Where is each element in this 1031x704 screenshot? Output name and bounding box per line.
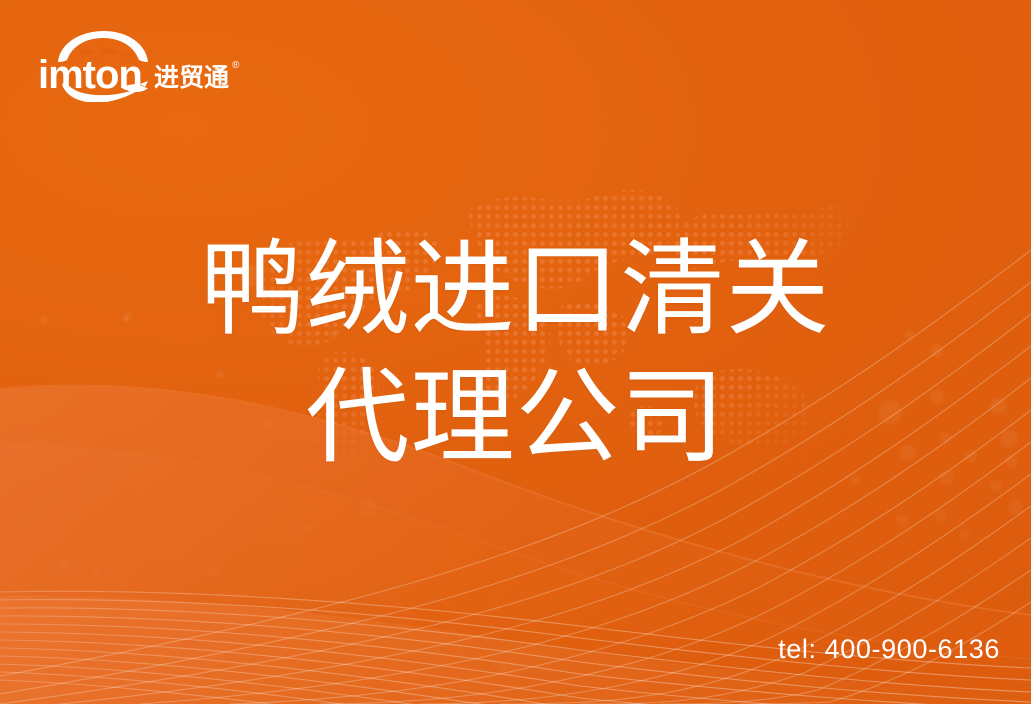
brand-logo[interactable]: imton 进贸通 ®	[36, 26, 246, 102]
promo-banner: imton 进贸通 ® 鸭绒进口清关 代理公司 tel: 400-900-613…	[0, 0, 1031, 704]
headline-line-1: 鸭绒进口清关	[0, 226, 1031, 354]
registered-trademark-icon: ®	[232, 60, 240, 71]
logo-latin-text: imton	[38, 53, 142, 97]
telephone-text: tel: 400-900-6136	[778, 634, 1000, 665]
page-title: 鸭绒进口清关 代理公司	[0, 226, 1031, 482]
logo-chinese-text: 进贸通	[154, 64, 229, 92]
headline-line-2: 代理公司	[0, 354, 1031, 482]
